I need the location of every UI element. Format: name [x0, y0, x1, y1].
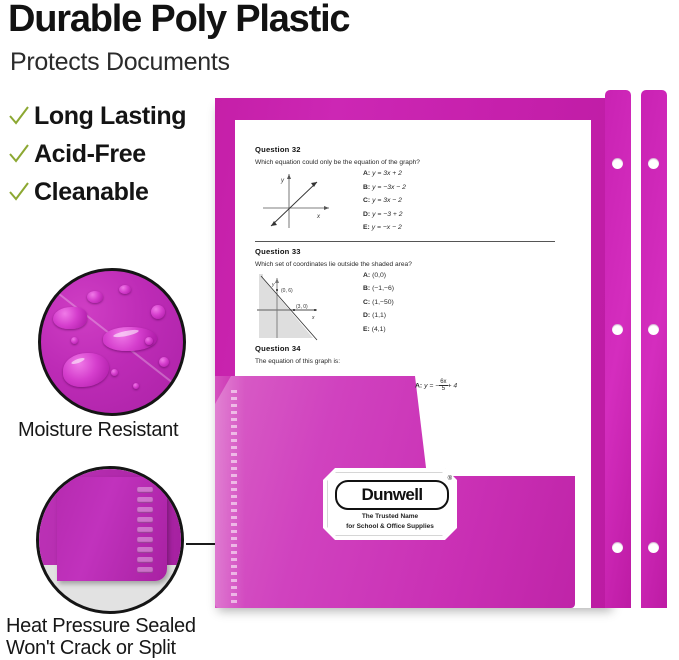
answer-choice: B: y = −3x − 2 [363, 184, 555, 191]
question-graph: y x (0, 6) (3, 0) [255, 272, 345, 344]
heat-seal-caption-line2: Won't Crack or Split [6, 637, 196, 659]
moisture-caption: Moisture Resistant [18, 419, 178, 442]
svg-text:x: x [316, 214, 321, 220]
tagline-line2: for School & Office Supplies [323, 522, 457, 532]
water-droplet [87, 291, 103, 303]
question-prompt: Which equation could only be the equatio… [255, 159, 555, 166]
choice-key: B: [363, 184, 370, 191]
tagline-line1: The Trusted Name [323, 512, 457, 522]
list-item: Acid-Free [8, 136, 208, 172]
choice-suffix: + 4 [448, 382, 458, 389]
page-title: Durable Poly Plastic [8, 0, 349, 41]
choice-text: y = 3x − 2 [372, 197, 402, 204]
choice-text: (4,1) [372, 326, 386, 333]
choice-key: A: [415, 382, 422, 389]
pocket-edge-highlight [215, 376, 245, 608]
punch-hole [648, 542, 659, 553]
water-droplet [111, 369, 118, 376]
water-droplet [151, 305, 165, 319]
folder-sealed-corner [57, 477, 167, 581]
answer-choice: B: (−1,−6) [363, 285, 555, 292]
registered-trademark-icon: ® [448, 476, 452, 482]
answer-choices: A: (0,0) B: (−1,−6) C: (1,−50) D: (1,1) … [345, 272, 555, 344]
answer-choice: C: (1,−50) [363, 299, 555, 306]
question-block: Question 34 The equation of this graph i… [255, 344, 555, 393]
water-droplet [63, 353, 109, 387]
punch-hole [612, 158, 623, 169]
choice-text: (0,0) [372, 272, 386, 279]
question-title: Question 34 [255, 344, 555, 353]
choice-key: C: [363, 197, 370, 204]
brand-tagline: The Trusted Name for School & Office Sup… [323, 512, 457, 532]
choice-key: D: [363, 312, 370, 319]
check-icon [8, 179, 30, 205]
choice-text: (−1,−6) [372, 285, 394, 292]
choice-key: C: [363, 299, 370, 306]
choice-key: E: [363, 224, 370, 231]
choice-prefix: y = − [424, 382, 439, 389]
punch-hole [612, 542, 623, 553]
punch-hole [648, 324, 659, 335]
answer-choice: E: y = −x − 2 [363, 224, 555, 231]
water-droplet [71, 337, 78, 344]
choice-key: E: [363, 326, 370, 333]
choice-text: (1,−50) [372, 299, 394, 306]
answer-choice: D: (1,1) [363, 312, 555, 319]
choice-key: D: [363, 211, 370, 218]
fraction-numerator: 6x [439, 379, 447, 386]
fraction: 6x5 [439, 379, 447, 393]
worksheet-content: Question 32 Which equation could only be… [255, 145, 555, 392]
heat-seal-caption-line1: Heat Pressure Sealed [6, 615, 196, 637]
choice-text: y = −x − 2 [372, 224, 402, 231]
svg-text:y: y [271, 282, 275, 288]
graph-point-label: (3, 0) [296, 304, 308, 310]
answer-choice: D: y = −3 + 2 [363, 211, 555, 218]
punch-hole [648, 158, 659, 169]
svg-text:y: y [280, 178, 285, 184]
choice-key: B: [363, 285, 370, 292]
list-item: Long Lasting [8, 98, 208, 134]
svg-text:x: x [311, 315, 315, 321]
punch-hole [612, 324, 623, 335]
question-prompt: The equation of this graph is: [255, 358, 555, 365]
choice-text: y = −3 + 2 [372, 211, 402, 218]
answer-choices: A: y = 3x + 2 B: y = −3x − 2 C: y = 3x −… [345, 170, 555, 238]
check-icon [8, 141, 30, 167]
heat-seal-caption: Heat Pressure Sealed Won't Crack or Spli… [6, 615, 196, 660]
feature-label: Acid-Free [34, 140, 146, 169]
answer-choice: A: y = −6x5+ 4 [255, 379, 555, 393]
answer-choice: A: y = 3x + 2 [363, 170, 555, 177]
brand-label-card: Dunwell ® The Trusted Name for School & … [323, 468, 457, 540]
heat-seal-emboss-marks [137, 487, 153, 577]
page-subtitle: Protects Documents [10, 48, 230, 77]
answer-choice: A: (0,0) [363, 272, 555, 279]
question-prompt: Which set of coordinates lie outside the… [255, 261, 555, 268]
question-block: Question 33 Which set of coordinates lie… [255, 247, 555, 344]
choice-key: A: [363, 272, 370, 279]
question-title: Question 33 [255, 247, 555, 256]
water-droplet [119, 285, 131, 294]
brand-name: Dunwell [362, 485, 423, 505]
water-droplet [159, 357, 169, 367]
folder-spine-left [605, 90, 631, 608]
answer-choice: E: (4,1) [363, 326, 555, 333]
heat-pressure-seal-photo [36, 466, 184, 614]
water-droplet [145, 337, 153, 345]
check-icon [8, 103, 30, 129]
question-block: Question 32 Which equation could only be… [255, 145, 555, 238]
fraction-denominator: 5 [439, 386, 447, 392]
brand-logo: Dunwell [335, 480, 449, 510]
answer-choice: C: y = 3x − 2 [363, 197, 555, 204]
water-droplet [133, 383, 139, 389]
feature-label: Cleanable [34, 178, 149, 207]
choice-key: A: [363, 170, 370, 177]
question-title: Question 32 [255, 145, 555, 154]
choice-text: (1,1) [372, 312, 386, 319]
choice-text: y = −3x − 2 [372, 184, 406, 191]
feature-list: Long Lasting Acid-Free Cleanable [8, 98, 208, 212]
graph-point-label: (0, 6) [281, 288, 293, 294]
folder-spine-right [641, 90, 667, 608]
moisture-resistant-photo [38, 268, 186, 416]
choice-text: y = 3x + 2 [372, 170, 402, 177]
surface-highlight-line [38, 268, 181, 390]
heat-seal-dotted-edge [231, 390, 237, 604]
water-droplet [53, 307, 87, 329]
question-graph: y x [255, 170, 345, 238]
feature-label: Long Lasting [34, 102, 186, 131]
list-item: Cleanable [8, 174, 208, 210]
section-divider [255, 241, 555, 242]
